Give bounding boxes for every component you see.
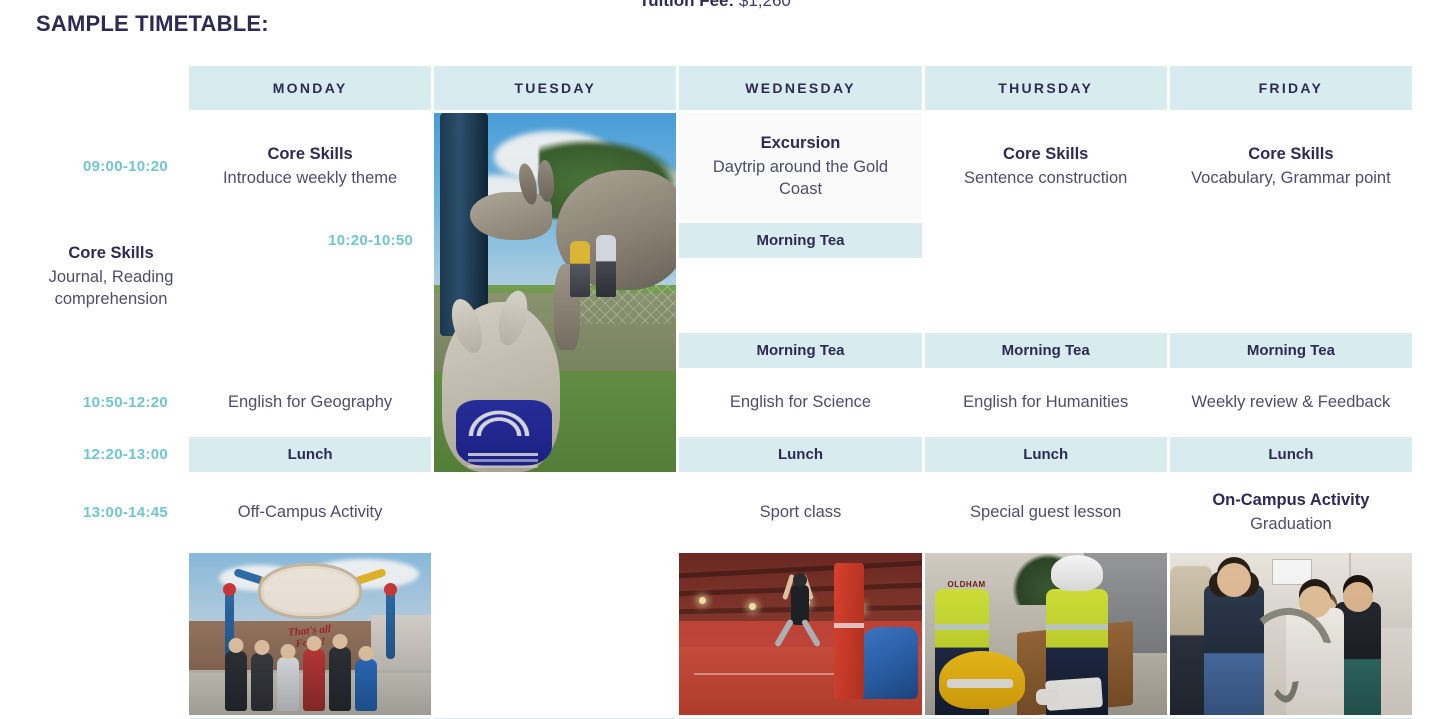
student-figure <box>251 653 273 711</box>
cell-monday-1300: Off-Campus Activity <box>189 475 431 550</box>
inflatable-slide <box>856 627 918 699</box>
snake-encounter-photo <box>1170 553 1412 715</box>
child-leg <box>801 618 821 647</box>
cell-title: On-Campus Activity <box>1212 490 1369 511</box>
cell-title: Core Skills <box>68 243 153 264</box>
sample-timetable-page: Tuition Fee: $1,260 SAMPLE TIMETABLE: MO… <box>0 0 1430 719</box>
helmet-label: OLDHAM <box>934 580 1000 589</box>
cell-detail: Journal, Reading comprehension <box>48 267 174 309</box>
page-title: SAMPLE TIMETABLE: <box>36 11 269 37</box>
student-figure <box>225 651 247 711</box>
person-figure <box>570 241 590 297</box>
yellow-helmet-icon <box>939 651 1025 709</box>
tuition-fee: Tuition Fee: $1,260 <box>0 0 1430 11</box>
cell-monday-0900: Core Skills Introduce weekly theme <box>189 113 431 220</box>
cell-monday-1050: English for Geography <box>189 371 431 434</box>
cell-thursday-0900: Core Skills Vocabulary, Grammar point <box>1170 113 1412 220</box>
tuesday-photo-spacer <box>434 553 676 715</box>
cell-detail: Graduation <box>1250 514 1332 535</box>
cell-wednesday-lunch: Lunch <box>679 437 921 472</box>
tuition-fee-value: $1,260 <box>739 0 791 10</box>
padded-pillar <box>834 563 864 699</box>
cell-detail: Daytrip around the Gold Coast <box>691 157 909 199</box>
cell-detail: Introduce weekly theme <box>223 168 397 189</box>
cell-tuesday-0900: Excursion Daytrip around the Gold Coast <box>679 113 921 220</box>
cell-thursday-morning-tea: Morning Tea <box>925 333 1167 368</box>
cell-friday-0900: Core Skills Journal, Reading comprehensi… <box>36 223 186 330</box>
time-label: 09:00-10:20 <box>36 113 186 220</box>
time-label-empty <box>36 553 186 715</box>
plush-vest-logo <box>456 400 552 466</box>
student-group <box>225 635 395 711</box>
student-figure <box>355 659 377 711</box>
day-header-wednesday: WEDNESDAY <box>679 66 921 110</box>
plush-ear <box>446 295 488 356</box>
cell-wednesday-morning-tea: Morning Tea <box>679 333 921 368</box>
cell-friday-1050: Weekly review & Feedback <box>1170 371 1412 434</box>
cell-wednesday-1050: English for Science <box>679 371 921 434</box>
cell-thursday-lunch: Lunch <box>925 437 1167 472</box>
photo-background-people <box>566 221 640 297</box>
plush-mascot <box>442 302 560 472</box>
time-label: 10:50-12:20 <box>36 371 186 434</box>
day-header-friday: FRIDAY <box>1170 66 1412 110</box>
student-figure <box>329 647 351 711</box>
timetable-grid: MONDAY TUESDAY WEDNESDAY THURSDAY FRIDAY <box>36 66 1412 719</box>
cell-wednesday-0900: Core Skills Sentence construction <box>925 113 1167 220</box>
firefighter-visit-photo: OLDHAM <box>925 553 1167 715</box>
kangaroo-photo <box>434 113 676 472</box>
hi-vis-stripe <box>935 624 989 630</box>
cell-title: Core Skills <box>267 144 352 165</box>
cell-detail: Sentence construction <box>964 168 1127 189</box>
cell-friday-lunch: Lunch <box>1170 437 1412 472</box>
cell-title: Core Skills <box>1003 144 1088 165</box>
day-header-monday: MONDAY <box>189 66 431 110</box>
student-figure <box>277 657 299 711</box>
hi-vis-stripe <box>1046 624 1108 630</box>
archway-knob <box>223 583 236 596</box>
person-figure <box>596 235 616 297</box>
day-header-tuesday: TUESDAY <box>434 66 676 110</box>
cell-friday-morning-tea: Morning Tea <box>1170 333 1412 368</box>
wall-frame <box>1272 559 1312 585</box>
cell-detail: Vocabulary, Grammar point <box>1191 168 1391 189</box>
student-figure <box>303 649 325 711</box>
cell-thursday-1300: Special guest lesson <box>925 475 1167 550</box>
tuition-fee-label: Tuition Fee: <box>639 0 734 10</box>
white-helmet-icon <box>1051 555 1103 591</box>
kangaroo-head <box>470 192 552 240</box>
theme-park-sign <box>258 563 362 619</box>
time-column-header <box>36 66 186 110</box>
theme-park-group-photo: That's all Folks! <box>189 553 431 715</box>
time-label: 10:20-10:50 <box>189 223 431 258</box>
cell-title: Core Skills <box>1248 144 1333 165</box>
cell-title: Excursion <box>761 133 841 154</box>
cell-wednesday-1300: Sport class <box>679 475 921 550</box>
day-header-thursday: THURSDAY <box>925 66 1167 110</box>
cell-friday-1300: On-Campus Activity Graduation <box>1170 475 1412 550</box>
time-label: 13:00-14:45 <box>36 475 186 550</box>
time-label: 12:20-13:00 <box>36 437 186 472</box>
cell-monday-lunch: Lunch <box>189 437 431 472</box>
cell-thursday-1050: English for Humanities <box>925 371 1167 434</box>
child-leg <box>774 618 794 647</box>
gymnastics-centre-photo <box>679 553 921 715</box>
cell-monday-morning-tea: Morning Tea <box>679 223 921 258</box>
glove <box>1036 689 1058 705</box>
